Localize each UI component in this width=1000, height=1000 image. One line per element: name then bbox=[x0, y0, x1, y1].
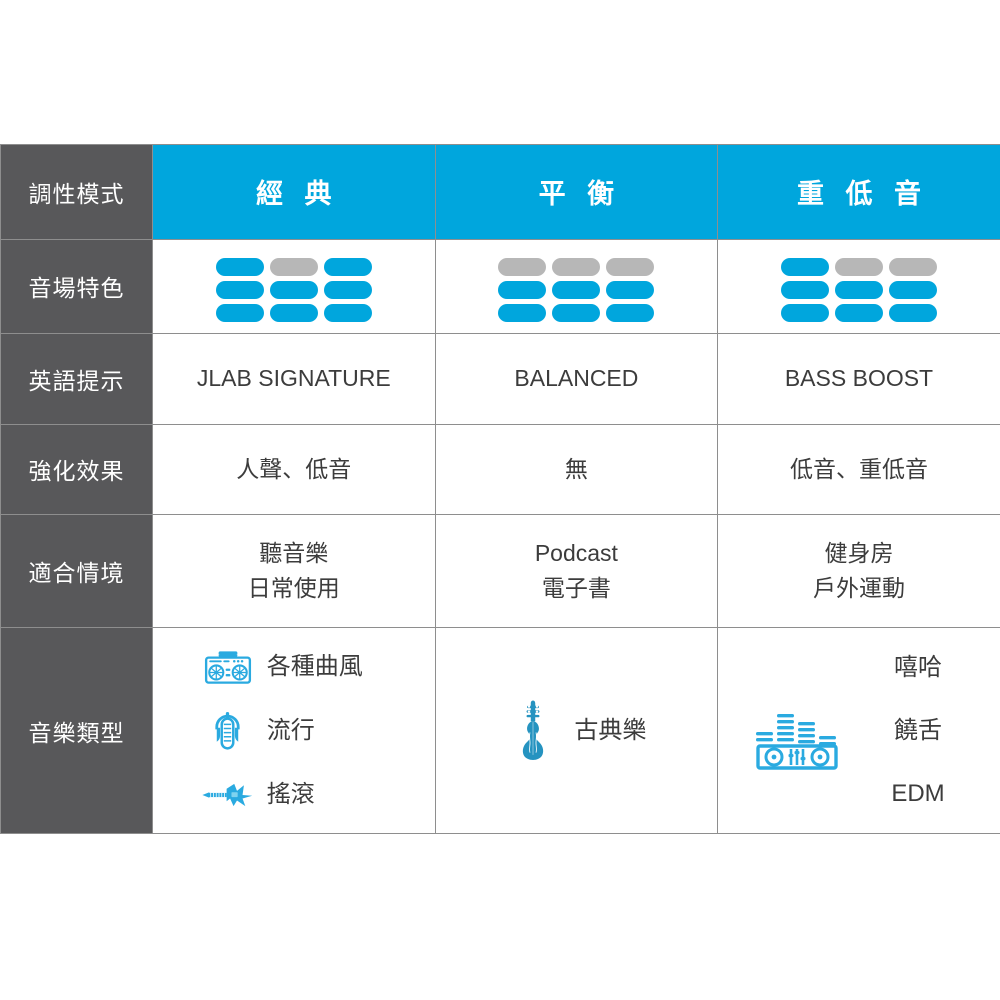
eq-bar-on bbox=[498, 281, 546, 299]
eq-comparison-table-page: 調性模式 經 典 平 衡 重 低 音 音場特色 英語提示 bbox=[0, 0, 1000, 1000]
scene-balanced: Podcast 電子書 bbox=[435, 515, 718, 628]
row-label-soundstage: 音場特色 bbox=[1, 239, 153, 334]
eq-bar-on bbox=[324, 304, 372, 322]
row-label-boost: 強化效果 bbox=[1, 424, 153, 514]
eq-bar-off bbox=[606, 258, 654, 276]
scene-line: 聽音樂 bbox=[153, 536, 435, 572]
table-header-row: 調性模式 經 典 平 衡 重 低 音 bbox=[1, 145, 1000, 240]
eq-bar-on bbox=[216, 258, 264, 276]
eq-bar-on bbox=[552, 281, 600, 299]
boombox-icon bbox=[201, 644, 255, 690]
row-label-english: 英語提示 bbox=[1, 334, 153, 424]
row-label-mode: 調性模式 bbox=[1, 145, 153, 240]
eq-bar-on bbox=[835, 281, 883, 299]
english-hint-bassboost: BASS BOOST bbox=[718, 334, 1000, 424]
genre-label: 嘻哈 bbox=[894, 649, 942, 686]
eq-bar-on bbox=[606, 304, 654, 322]
sound-mode-comparison-table: 調性模式 經 典 平 衡 重 低 音 音場特色 英語提示 bbox=[0, 144, 1000, 834]
column-header-bassboost: 重 低 音 bbox=[718, 145, 1000, 240]
eq-bar-off bbox=[835, 258, 883, 276]
genre-label: 古典樂 bbox=[574, 712, 646, 749]
genre-label: 搖滾 bbox=[267, 776, 387, 813]
genre-item: 流行 bbox=[179, 708, 409, 754]
eq-bar-on bbox=[216, 281, 264, 299]
eq-bar-on bbox=[552, 304, 600, 322]
eq-bar-on bbox=[498, 304, 546, 322]
eq-bar-on bbox=[216, 304, 264, 322]
eq-cell-classic bbox=[153, 239, 436, 334]
table-row-soundstage: 音場特色 bbox=[1, 239, 1000, 334]
english-hint-classic: JLAB SIGNATURE bbox=[153, 334, 436, 424]
eq-bar-on bbox=[324, 281, 372, 299]
genre-list-classic: 各種曲風 bbox=[153, 628, 435, 833]
eq-bar-on bbox=[781, 304, 829, 322]
eq-bar-off bbox=[889, 258, 937, 276]
boost-effect-balanced: 無 bbox=[435, 424, 718, 514]
eq-bar-on bbox=[781, 258, 829, 276]
genre-list-balanced: 古典樂 bbox=[436, 628, 718, 833]
eq-grid-bassboost bbox=[781, 258, 937, 322]
eq-bar-off bbox=[270, 258, 318, 276]
eq-grid-balanced bbox=[498, 258, 654, 322]
genre-label: 各種曲風 bbox=[267, 648, 387, 685]
row-label-genre: 音樂類型 bbox=[1, 628, 153, 834]
scene-line: Podcast bbox=[436, 536, 718, 572]
scene-line: 日常使用 bbox=[153, 571, 435, 607]
genre-list-bassboost: 嘻哈 饒舌 EDM bbox=[718, 628, 1000, 833]
column-header-balanced: 平 衡 bbox=[435, 145, 718, 240]
genre-cell-classic: 各種曲風 bbox=[153, 628, 436, 834]
dj-mixer-icon bbox=[752, 692, 848, 770]
table-row-scene: 適合情境 聽音樂 日常使用 Podcast 電子書 健身房 戶外運動 bbox=[1, 515, 1000, 628]
eq-bar-off bbox=[498, 258, 546, 276]
eq-bar-on bbox=[270, 304, 318, 322]
genre-label: EDM bbox=[891, 775, 944, 812]
genre-item: 搖滾 bbox=[179, 772, 409, 818]
scene-line: 電子書 bbox=[436, 571, 718, 607]
genre-item: 各種曲風 bbox=[179, 644, 409, 690]
eq-bar-on bbox=[889, 281, 937, 299]
genre-label-stack: 嘻哈 饒舌 EDM bbox=[870, 649, 966, 813]
boost-effect-classic: 人聲、低音 bbox=[153, 424, 436, 514]
row-label-scene: 適合情境 bbox=[1, 515, 153, 628]
scene-line: 戶外運動 bbox=[718, 571, 1000, 607]
eq-bar-on bbox=[606, 281, 654, 299]
column-header-classic: 經 典 bbox=[153, 145, 436, 240]
table-row-english-hint: 英語提示 JLAB SIGNATURE BALANCED BASS BOOST bbox=[1, 334, 1000, 424]
scene-classic: 聽音樂 日常使用 bbox=[153, 515, 436, 628]
english-hint-balanced: BALANCED bbox=[435, 334, 718, 424]
genre-cell-bassboost: 嘻哈 饒舌 EDM bbox=[718, 628, 1000, 834]
eq-bar-on bbox=[889, 304, 937, 322]
genre-label: 饒舌 bbox=[894, 712, 942, 749]
scene-bassboost: 健身房 戶外運動 bbox=[718, 515, 1000, 628]
eq-cell-bassboost bbox=[718, 239, 1000, 334]
microphone-icon bbox=[201, 708, 255, 754]
scene-line: 健身房 bbox=[718, 536, 1000, 572]
boost-effect-bassboost: 低音、重低音 bbox=[718, 424, 1000, 514]
eq-bar-on bbox=[324, 258, 372, 276]
electric-guitar-icon bbox=[201, 772, 255, 818]
eq-bar-on bbox=[270, 281, 318, 299]
eq-cell-balanced bbox=[435, 239, 718, 334]
violin-icon bbox=[506, 708, 560, 754]
table-row-boost-effect: 強化效果 人聲、低音 無 低音、重低音 bbox=[1, 424, 1000, 514]
table-row-genre: 音樂類型 bbox=[1, 628, 1000, 834]
genre-cell-balanced: 古典樂 bbox=[435, 628, 718, 834]
eq-bar-off bbox=[552, 258, 600, 276]
eq-bar-on bbox=[835, 304, 883, 322]
eq-grid-classic bbox=[216, 258, 372, 322]
genre-label: 流行 bbox=[267, 712, 387, 749]
eq-bar-on bbox=[781, 281, 829, 299]
